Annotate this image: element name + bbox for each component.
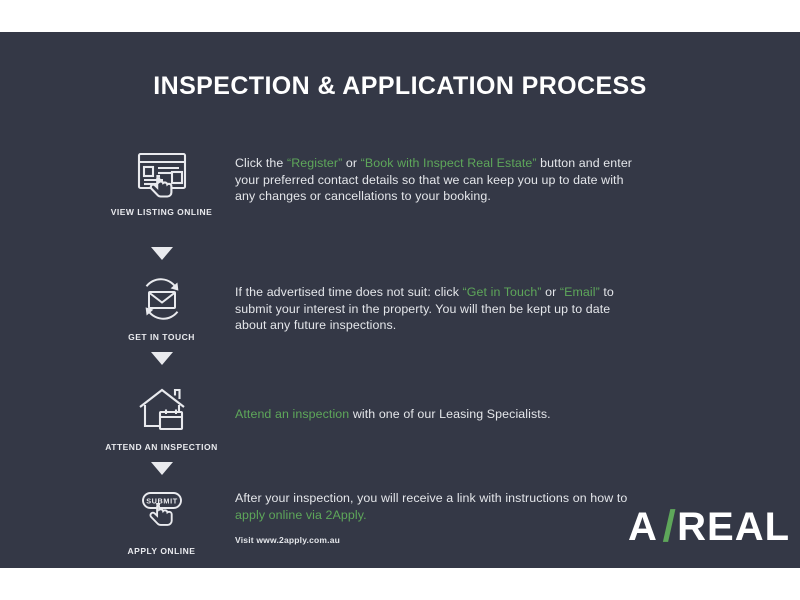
page-title: INSPECTION & APPLICATION PROCESS: [0, 72, 800, 101]
step-4-icon-column: SUBMIT APPLY ONLINE: [95, 484, 228, 556]
logo-letter-a: A: [628, 505, 658, 550]
body-phrase: with one of our Leasing Specialists.: [349, 407, 550, 421]
connector-3: [95, 462, 228, 475]
company-logo: A / REAL: [628, 502, 790, 552]
step-1-description: Click the “Register” or “Book with Inspe…: [235, 155, 635, 205]
step-4-description: After your inspection, you will receive …: [235, 490, 635, 523]
step-4-note: Visit www.2apply.com.au: [235, 535, 635, 546]
step-1-label: VIEW LISTING ONLINE: [95, 207, 228, 217]
slide-background: INSPECTION & APPLICATION PROCESS VIEW LI…: [0, 32, 800, 568]
highlighted-phrase: Attend an inspection: [235, 407, 349, 421]
highlighted-phrase: “Email”: [560, 285, 600, 299]
step-2-icon-column: GET IN TOUCH: [95, 270, 228, 342]
body-phrase: If the advertised time does not suit: cl…: [235, 285, 463, 299]
submit-button-icon-label: SUBMIT: [146, 496, 178, 505]
connector-1: [95, 247, 228, 260]
connector-2: [95, 352, 228, 365]
logo-slash: /: [662, 502, 677, 552]
logo-word-real: REAL: [677, 505, 790, 550]
highlighted-phrase: “Register”: [287, 156, 342, 170]
body-phrase: or: [542, 285, 560, 299]
down-triangle-icon: [151, 352, 173, 365]
highlighted-phrase: “Get in Touch”: [463, 285, 542, 299]
body-phrase: or: [342, 156, 360, 170]
body-phrase: Click the: [235, 156, 287, 170]
down-triangle-icon: [151, 462, 173, 475]
listing-page-click-icon: [95, 145, 228, 203]
step-2-description: If the advertised time does not suit: cl…: [235, 284, 635, 334]
submit-button-click-icon: SUBMIT: [95, 484, 228, 542]
envelope-refresh-icon: [95, 270, 228, 328]
highlighted-phrase: apply online via 2Apply.: [235, 508, 367, 522]
step-3-description: Attend an inspection with one of our Lea…: [235, 406, 635, 423]
step-4-label: APPLY ONLINE: [95, 546, 228, 556]
step-2-label: GET IN TOUCH: [95, 332, 228, 342]
down-triangle-icon: [151, 247, 173, 260]
house-calendar-icon: [95, 380, 228, 438]
step-1-icon-column: VIEW LISTING ONLINE: [95, 145, 228, 217]
highlighted-phrase: “Book with Inspect Real Estate”: [361, 156, 537, 170]
body-phrase: After your inspection, you will receive …: [235, 491, 627, 505]
step-3-icon-column: ATTEND AN INSPECTION: [95, 380, 228, 452]
step-3-label: ATTEND AN INSPECTION: [95, 442, 228, 452]
